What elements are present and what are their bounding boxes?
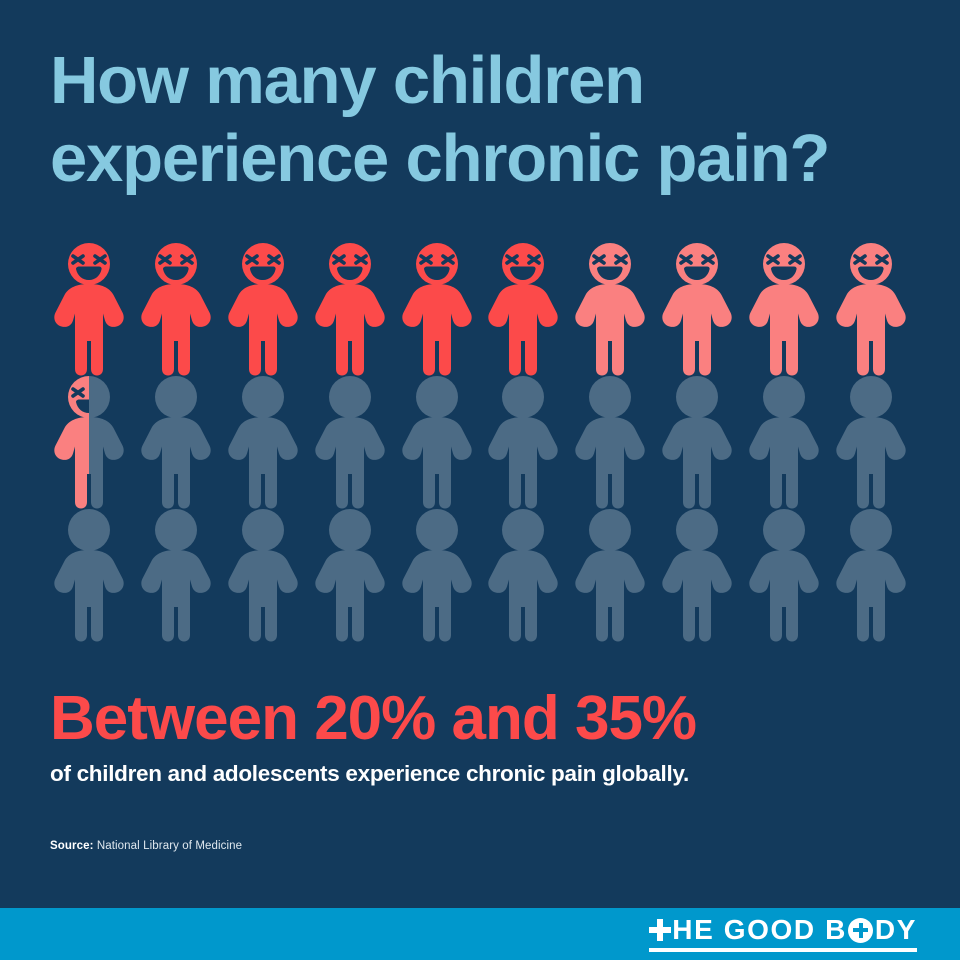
person-icon [315, 376, 385, 509]
pictogram-figure-red [133, 243, 220, 376]
title-line-1: How many children [50, 42, 930, 120]
person-icon [141, 376, 211, 509]
person-icon [141, 509, 211, 642]
circle-plus-icon [848, 918, 873, 943]
person-icon [402, 509, 472, 642]
person-icon [488, 509, 558, 642]
page-title: How many children experience chronic pai… [50, 42, 930, 199]
pictogram-figure-pink [567, 243, 654, 376]
pictogram-figure-pink [654, 243, 741, 376]
brand-logo-row: HE GOOD B DY [649, 916, 917, 944]
person-icon [141, 243, 211, 376]
person-icon [402, 243, 472, 376]
pictogram-figure-gray [740, 509, 827, 642]
pictogram-figure-gray [306, 509, 393, 642]
person-icon [54, 376, 124, 509]
pictogram-figure-red [46, 243, 133, 376]
person-icon [662, 509, 732, 642]
source-attribution: Source: National Library of Medicine [50, 840, 242, 852]
person-icon [662, 243, 732, 376]
person-icon [662, 376, 732, 509]
pictogram-figure-gray [46, 509, 133, 642]
person-icon [54, 509, 124, 642]
person-icon [402, 376, 472, 509]
pictogram-figure-red [393, 243, 480, 376]
person-icon [228, 509, 298, 642]
plus-icon [649, 919, 671, 941]
person-icon [575, 376, 645, 509]
pictogram-row [46, 376, 914, 509]
person-icon [488, 243, 558, 376]
person-icon [836, 243, 906, 376]
source-name: National Library of Medicine [97, 840, 242, 852]
person-icon [575, 243, 645, 376]
person-icon [315, 509, 385, 642]
person-icon [54, 243, 124, 376]
pictogram-figure-gray [654, 376, 741, 509]
pictogram-figure-gray [567, 509, 654, 642]
stat-subtext: of children and adolescents experience c… [50, 761, 689, 787]
pictogram-figure-gray [306, 376, 393, 509]
pictogram-figure-gray [133, 376, 220, 509]
brand-logo-underline [649, 948, 917, 952]
pictogram-figure-gray [827, 376, 914, 509]
pictogram-figure-pink [740, 243, 827, 376]
pictogram-figure-gray [740, 376, 827, 509]
pictogram-figure-red [220, 243, 307, 376]
footer-bar: HE GOOD B DY [0, 908, 960, 960]
pictogram-figure-gray [393, 509, 480, 642]
pictogram-figure-half [46, 376, 133, 509]
person-icon [749, 243, 819, 376]
title-line-2: experience chronic pain? [50, 120, 930, 198]
pictogram-chart [46, 243, 914, 643]
person-icon [575, 509, 645, 642]
brand-logo[interactable]: HE GOOD B DY [649, 916, 917, 952]
stat-headline: Between 20% and 35% [50, 683, 696, 754]
person-icon [836, 509, 906, 642]
pictogram-figure-gray [220, 376, 307, 509]
person-icon [749, 376, 819, 509]
pictogram-figure-gray [480, 509, 567, 642]
pictogram-figure-gray [480, 376, 567, 509]
pictogram-figure-gray [220, 509, 307, 642]
pictogram-figure-gray [827, 509, 914, 642]
pictogram-figure-gray [567, 376, 654, 509]
person-icon [836, 376, 906, 509]
person-icon [488, 376, 558, 509]
pictogram-figure-red [480, 243, 567, 376]
person-icon [749, 509, 819, 642]
pictogram-figure-red [306, 243, 393, 376]
brand-logo-text-1: HE GOOD B [672, 916, 847, 944]
brand-logo-text-2: DY [875, 916, 917, 944]
infographic-canvas: How many children experience chronic pai… [0, 0, 960, 960]
pictogram-figure-gray [654, 509, 741, 642]
person-icon [228, 376, 298, 509]
pictogram-figure-gray [133, 509, 220, 642]
person-icon [315, 243, 385, 376]
pictogram-figure-gray [393, 376, 480, 509]
pictogram-row [46, 243, 914, 376]
pictogram-figure-pink [827, 243, 914, 376]
source-label: Source: [50, 840, 94, 852]
pictogram-row [46, 509, 914, 642]
person-icon [228, 243, 298, 376]
